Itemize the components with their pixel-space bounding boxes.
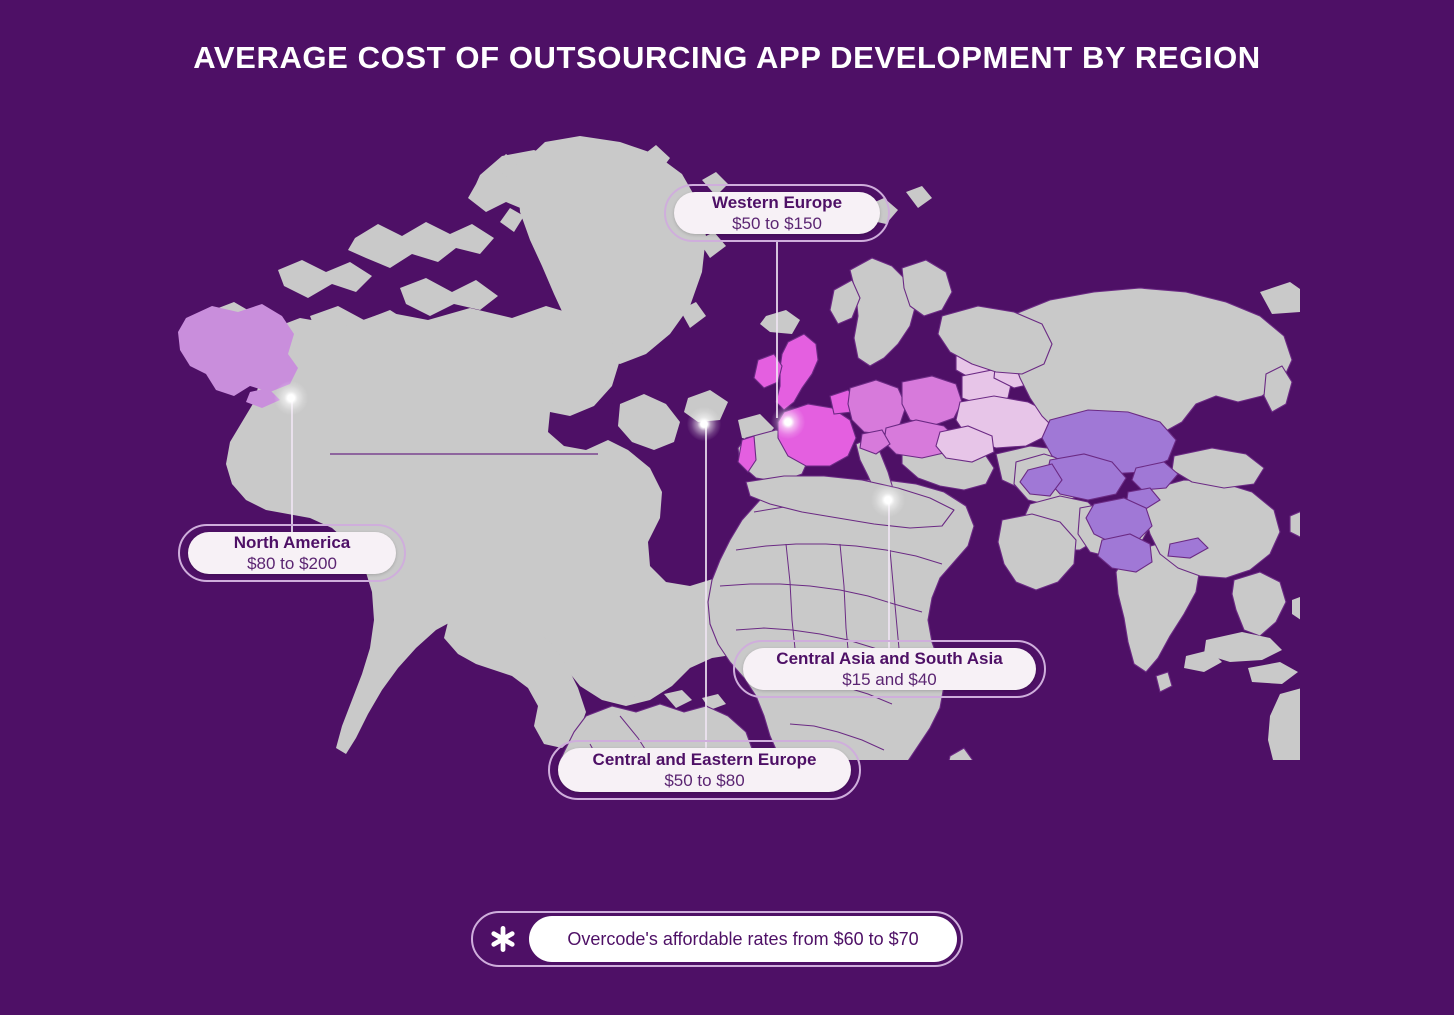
footer-text: Overcode's affordable rates from $60 to … [567,929,918,950]
callout-price-label: $50 to $80 [664,770,744,791]
infographic-canvas: AVERAGE COST OF OUTSOURCING APP DEVELOPM… [0,0,1454,1015]
footer-banner[interactable]: Overcode's affordable rates from $60 to … [471,911,963,967]
callout-western-europe[interactable]: Western Europe $50 to $150 [664,184,890,242]
callout-region-label: Central and Eastern Europe [593,749,817,770]
callout-price-label: $15 and $40 [842,669,937,690]
callout-region-label: North America [234,532,351,553]
callout-region-label: Western Europe [712,192,842,213]
footer-pill: Overcode's affordable rates from $60 to … [529,916,957,962]
callout-body: Central Asia and South Asia $15 and $40 [743,648,1036,690]
callout-body: North America $80 to $200 [188,532,396,574]
connector-western-europe [776,240,778,418]
callout-price-label: $50 to $150 [732,213,822,234]
callout-price-label: $80 to $200 [247,553,337,574]
callout-central-eastern-europe[interactable]: Central and Eastern Europe $50 to $80 [548,740,861,800]
callout-body: Western Europe $50 to $150 [674,192,880,234]
callout-body: Central and Eastern Europe $50 to $80 [558,748,851,792]
callout-north-america[interactable]: North America $80 to $200 [178,524,406,582]
connector-north-america [291,398,293,538]
asterisk-icon [477,916,529,962]
callout-region-label: Central Asia and South Asia [776,648,1002,669]
page-title: AVERAGE COST OF OUTSOURCING APP DEVELOPM… [0,40,1454,76]
connector-central-eastern-europe [705,424,707,768]
footer-inner: Overcode's affordable rates from $60 to … [477,916,957,962]
connector-central-asia [888,498,890,656]
callout-central-asia-south-asia[interactable]: Central Asia and South Asia $15 and $40 [733,640,1046,698]
